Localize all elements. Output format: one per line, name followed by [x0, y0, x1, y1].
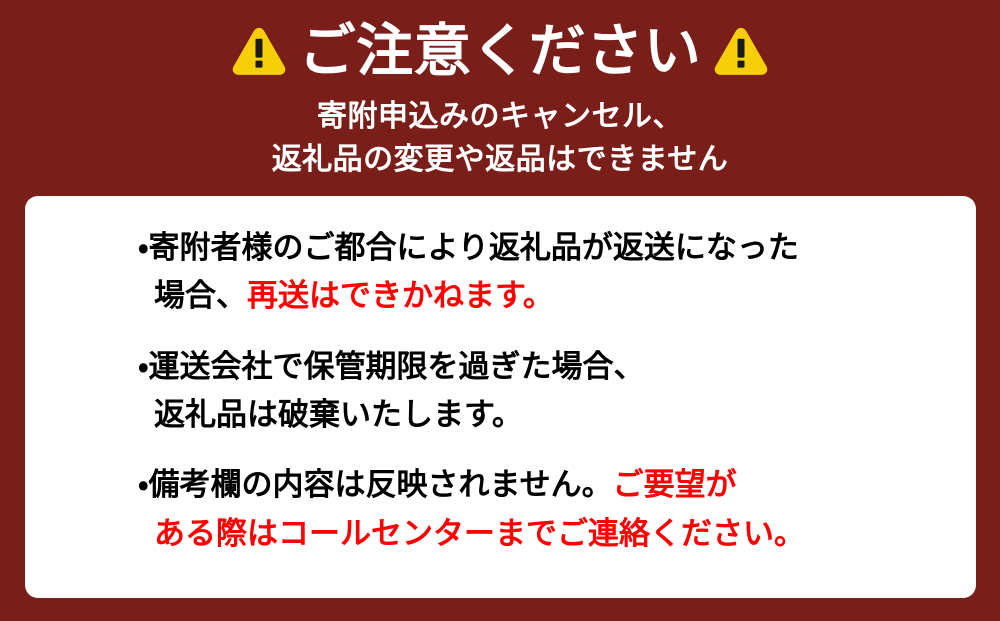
page-title: ご注意ください — [299, 23, 702, 80]
notice-header: ご注意ください 寄附申込みのキャンセル、 返礼品の変更や返品はできません — [0, 0, 1000, 181]
notice-3-line2: ある際はコールセンターまでご連絡ください。 — [154, 510, 936, 558]
notice-3-line1-black: 備考欄の内容は反映されません。 — [149, 467, 613, 503]
notice-1-line2-red: 再送はできかねます。 — [247, 278, 554, 314]
list-item: ・備考欄の内容は反映されません。ご要望が ある際はコールセンターまでご連絡くださ… — [138, 461, 936, 558]
notice-subtitle: 寄附申込みのキャンセル、 返礼品の変更や返品はできません — [0, 96, 1000, 181]
bullet-mark: ・ — [138, 349, 149, 385]
list-item: ・運送会社で保管期限を過ぎた場合、 返礼品は破棄いたします。 — [138, 343, 936, 440]
bullet-mark: ・ — [138, 230, 149, 266]
notice-2-line2: 返礼品は破棄いたします。 — [154, 391, 936, 439]
notice-1-line2-black: 場合、 — [154, 278, 247, 314]
list-item: ・寄附者様のご都合により返礼品が返送になった 場合、再送はできかねます。 — [138, 224, 936, 321]
notice-3-line2-red: ある際はコールセンターまでご連絡ください。 — [154, 516, 805, 552]
warning-notice-banner: ご注意ください 寄附申込みのキャンセル、 返礼品の変更や返品はできません ・寄附… — [0, 0, 1000, 621]
notice-card: ・寄附者様のご都合により返礼品が返送になった 場合、再送はできかねます。 ・運送… — [25, 196, 976, 598]
notice-list: ・寄附者様のご都合により返礼品が返送になった 場合、再送はできかねます。 ・運送… — [138, 224, 936, 558]
notice-1-line2: 場合、再送はできかねます。 — [154, 272, 936, 320]
notice-subtitle-line-2: 返礼品の変更や返品はできません — [0, 139, 1000, 182]
notice-2-line1-black: 運送会社で保管期限を過ぎた場合、 — [149, 349, 645, 385]
bullet-mark: ・ — [138, 467, 149, 503]
notice-subtitle-line-1: 寄附申込みのキャンセル、 — [0, 96, 1000, 139]
warning-triangle-icon — [713, 23, 769, 79]
notice-1-line1-black: 寄附者様のご都合により返礼品が返送になった — [149, 230, 799, 266]
title-row: ご注意ください — [0, 14, 1000, 88]
warning-triangle-icon — [231, 23, 287, 79]
notice-3-line1-red: ご要望が — [613, 467, 737, 503]
notice-2-line2-black: 返礼品は破棄いたします。 — [154, 397, 523, 433]
